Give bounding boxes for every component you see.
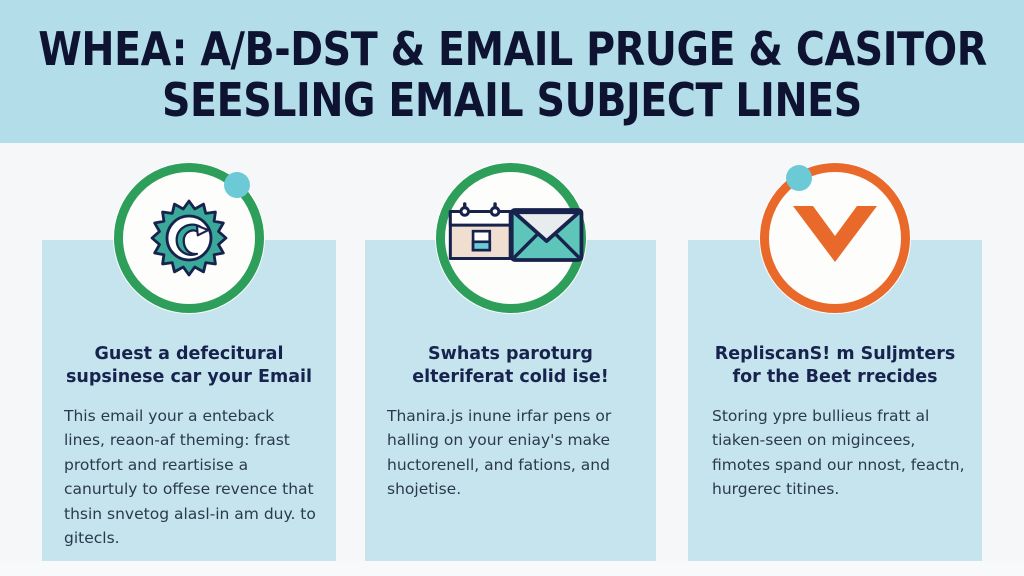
badge-2 bbox=[436, 163, 586, 313]
column-3: RepliscanS! m Suljmters for the Beet rre… bbox=[688, 143, 982, 576]
card-2-body: Thanira.js inune irfar pens or halling o… bbox=[387, 404, 638, 502]
header-band: WHEA: A/B-DST & EMAIL PRUGE & CASITOR SE… bbox=[0, 0, 1024, 143]
badge-3 bbox=[760, 163, 910, 313]
header-title-line-1: WHEA: A/B-DST & EMAIL PRUGE & CASITOR bbox=[38, 26, 987, 73]
badge-1 bbox=[114, 163, 264, 313]
bottom-strip bbox=[0, 561, 1024, 576]
card-1-heading: Guest a defecitural supsinese car your E… bbox=[56, 343, 322, 389]
card-3-body: Storing ypre bullieus fratt al tiaken-se… bbox=[712, 404, 968, 502]
column-2: Swhats paroturg elteriferat colid ise! T… bbox=[365, 143, 656, 576]
gear-swirl-icon bbox=[114, 163, 264, 313]
columns-container: Guest a defecitural supsinese car your E… bbox=[0, 143, 1024, 576]
card-1-body: This email your a enteback lines, reaon-… bbox=[64, 404, 318, 551]
calendar-envelope-icon bbox=[436, 163, 586, 313]
column-1: Guest a defecitural supsinese car your E… bbox=[42, 143, 336, 576]
header-title-line-2: SEESLING EMAIL SUBJECT LINES bbox=[162, 77, 862, 124]
infographic-poster: WHEA: A/B-DST & EMAIL PRUGE & CASITOR SE… bbox=[0, 0, 1024, 576]
card-3-heading: RepliscanS! m Suljmters for the Beet rre… bbox=[702, 343, 968, 389]
checkmark-icon bbox=[760, 163, 910, 313]
card-2-heading: Swhats paroturg elteriferat colid ise! bbox=[379, 343, 642, 389]
